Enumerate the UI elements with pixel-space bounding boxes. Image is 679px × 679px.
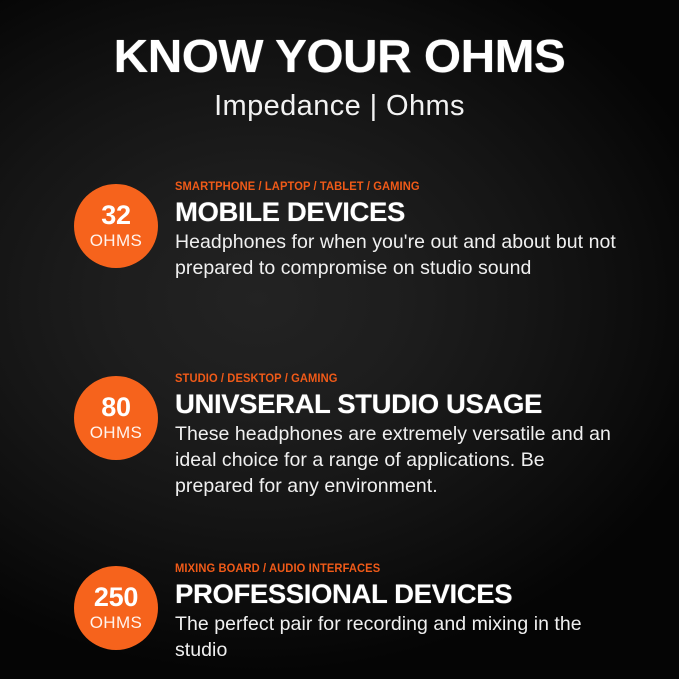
page-subtitle: Impedance | Ohms <box>0 89 679 123</box>
list-item: 250 OHMS MIXING BOARD / AUDIO INTERFACES… <box>0 554 679 663</box>
list-item-description: Headphones for when you're out and about… <box>175 229 623 281</box>
header: KNOW YOUR OHMS Impedance | Ohms <box>0 31 679 123</box>
ohm-badge: 250 OHMS <box>74 566 158 650</box>
list-item-kicker: STUDIO / DESKTOP / GAMING <box>175 372 610 386</box>
list-item-description: The perfect pair for recording and mixin… <box>175 611 623 663</box>
list-item: 32 OHMS SMARTPHONE / LAPTOP / TABLET / G… <box>0 172 679 281</box>
ohms-infographic: KNOW YOUR OHMS Impedance | Ohms 32 OHMS … <box>0 0 679 679</box>
ohm-badge-unit: OHMS <box>90 424 143 442</box>
ohms-list: 32 OHMS SMARTPHONE / LAPTOP / TABLET / G… <box>0 160 679 663</box>
list-item-kicker: SMARTPHONE / LAPTOP / TABLET / GAMING <box>175 180 610 194</box>
ohm-badge: 80 OHMS <box>74 376 158 460</box>
ohm-badge-value: 32 <box>101 202 130 229</box>
ohm-badge-value: 80 <box>101 394 130 421</box>
list-item-body: STUDIO / DESKTOP / GAMING UNIVSERAL STUD… <box>158 364 679 499</box>
list-item: 80 OHMS STUDIO / DESKTOP / GAMING UNIVSE… <box>0 364 679 499</box>
list-item-body: SMARTPHONE / LAPTOP / TABLET / GAMING MO… <box>158 172 679 281</box>
list-item-description: These headphones are extremely versatile… <box>175 421 623 499</box>
ohm-badge-unit: OHMS <box>90 614 143 632</box>
list-item-title: MOBILE DEVICES <box>175 197 632 227</box>
list-item-body: MIXING BOARD / AUDIO INTERFACES PROFESSI… <box>158 554 679 663</box>
ohm-badge-unit: OHMS <box>90 232 143 250</box>
ohm-badge-value: 250 <box>94 584 138 611</box>
list-item-title: UNIVSERAL STUDIO USAGE <box>175 389 632 419</box>
list-item-kicker: MIXING BOARD / AUDIO INTERFACES <box>175 562 610 576</box>
page-title: KNOW YOUR OHMS <box>0 31 679 81</box>
list-item-title: PROFESSIONAL DEVICES <box>175 579 632 609</box>
ohm-badge: 32 OHMS <box>74 184 158 268</box>
